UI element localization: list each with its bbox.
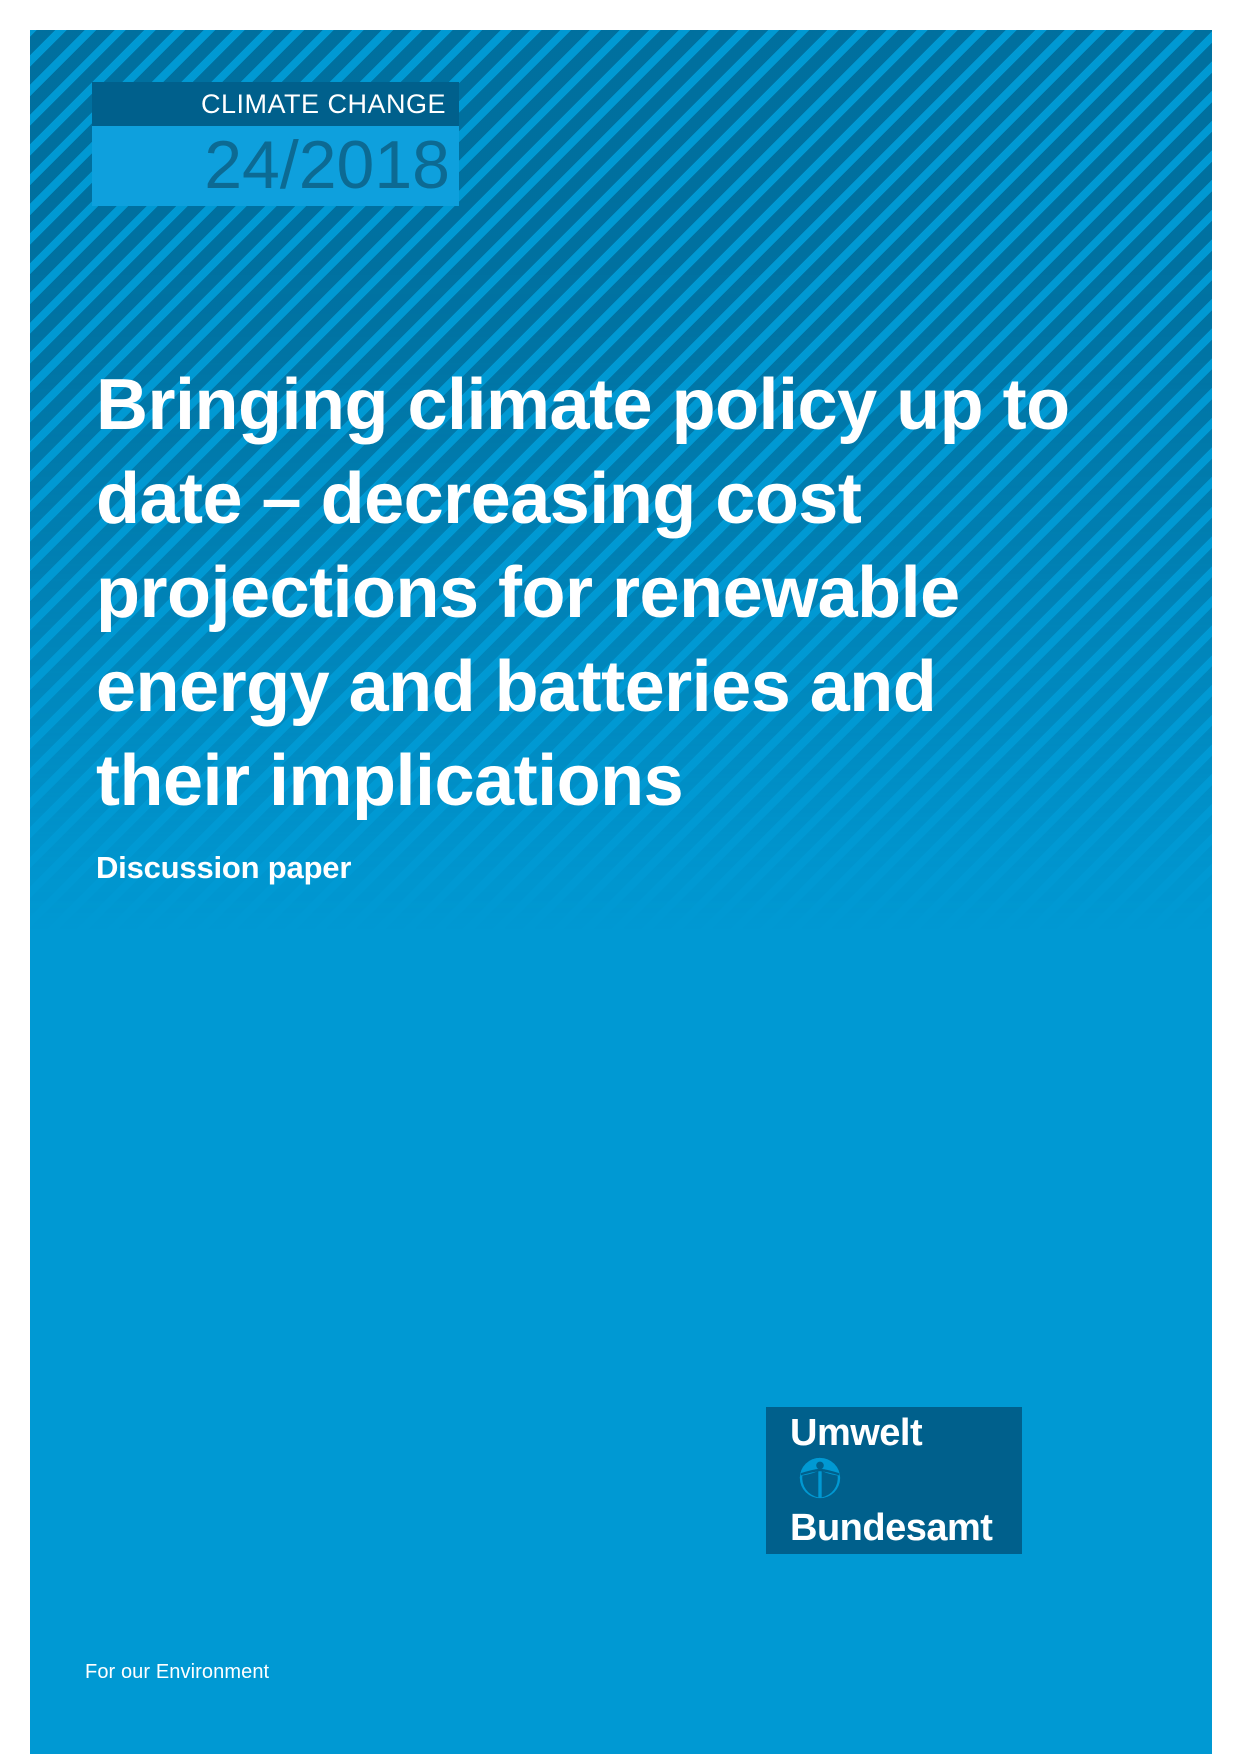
uba-figure-emblem-icon [799, 1457, 841, 1509]
diagonal-stripe-pattern [30, 30, 1212, 1754]
page-title: Bringing climate policy up to date – dec… [96, 358, 1086, 828]
issue-number: 24/2018 [204, 126, 450, 204]
series-label: CLIMATE CHANGE [201, 89, 446, 119]
publisher-wordmark-line2: Bundesamt [790, 1507, 992, 1550]
cover-page: CLIMATE CHANGE 24/2018 Bringing climate … [30, 30, 1212, 1754]
issue-number-band: 24/2018 [92, 126, 459, 206]
title-block: Bringing climate policy up to date – dec… [96, 358, 1086, 886]
publisher-wordmark: Umwelt Bundesa [790, 1412, 992, 1550]
publisher-logo: Umwelt Bundesa [766, 1407, 1022, 1554]
publisher-wordmark-line1: Umwelt [790, 1412, 992, 1455]
series-label-band: CLIMATE CHANGE [92, 82, 459, 126]
footer-tagline: For our Environment [85, 1661, 269, 1684]
page-subtitle: Discussion paper [96, 850, 1086, 886]
series-badge: CLIMATE CHANGE 24/2018 [92, 82, 459, 206]
